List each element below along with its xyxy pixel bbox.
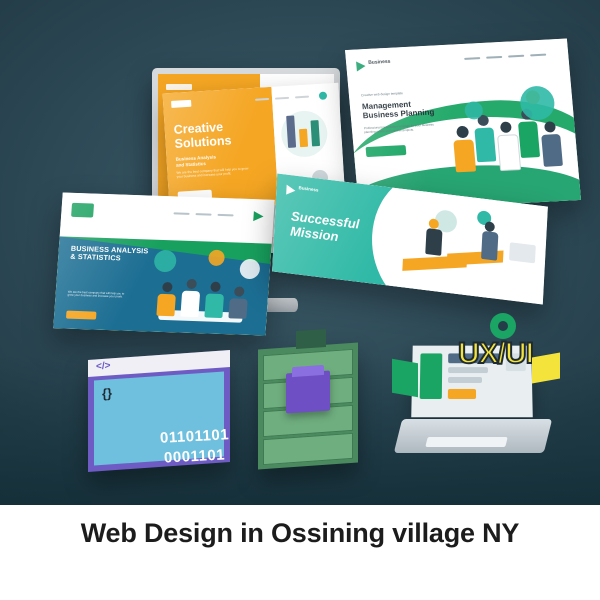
analysis-logo (71, 203, 94, 218)
management-logo-icon (356, 61, 366, 71)
code-tag-icon: </> (96, 360, 110, 372)
illustration-people-group (447, 85, 576, 191)
analysis-play-icon (253, 211, 264, 221)
hero-illustration: Creative Solutions Business Analysis and… (0, 0, 600, 505)
cta-block (448, 389, 476, 399)
uxui-label: UX/UI (458, 337, 533, 371)
file-cabinet-prop (258, 343, 358, 470)
analysis-cta-button[interactable] (66, 311, 97, 320)
mission-logo-icon (286, 185, 295, 196)
binary-line-2: 0001101 (164, 446, 226, 466)
creative-logo (171, 100, 191, 108)
laptop-trackpad (425, 437, 507, 447)
uxui-laptop-prop: UX/UI (398, 345, 548, 465)
business-analysis-statistics-slide: BUSINESS ANALYSIS & STATISTICS We are th… (53, 192, 274, 335)
laptop-base (394, 419, 552, 453)
screenshot-stage: Creative Solutions Business Analysis and… (0, 0, 600, 600)
cabinet-top-shadow (296, 329, 326, 349)
page-title: Web Design in Ossining village NY (0, 518, 600, 549)
yellow-panel-prop (532, 353, 560, 384)
braces-icon: {} (102, 385, 112, 401)
sidebar-block (420, 353, 443, 399)
green-panel-prop (392, 359, 418, 398)
illustration-meeting-scene (146, 248, 264, 332)
management-cta-button[interactable] (366, 145, 407, 157)
binary-line-1: 01101101 (160, 426, 230, 447)
illustration-mission-scene (398, 199, 542, 300)
management-brand: Business (368, 59, 391, 66)
creative-title: Creative Solutions (173, 119, 232, 150)
analysis-title: BUSINESS ANALYSIS & STATISTICS (70, 245, 149, 264)
management-title: Management Business Planning (362, 100, 435, 122)
